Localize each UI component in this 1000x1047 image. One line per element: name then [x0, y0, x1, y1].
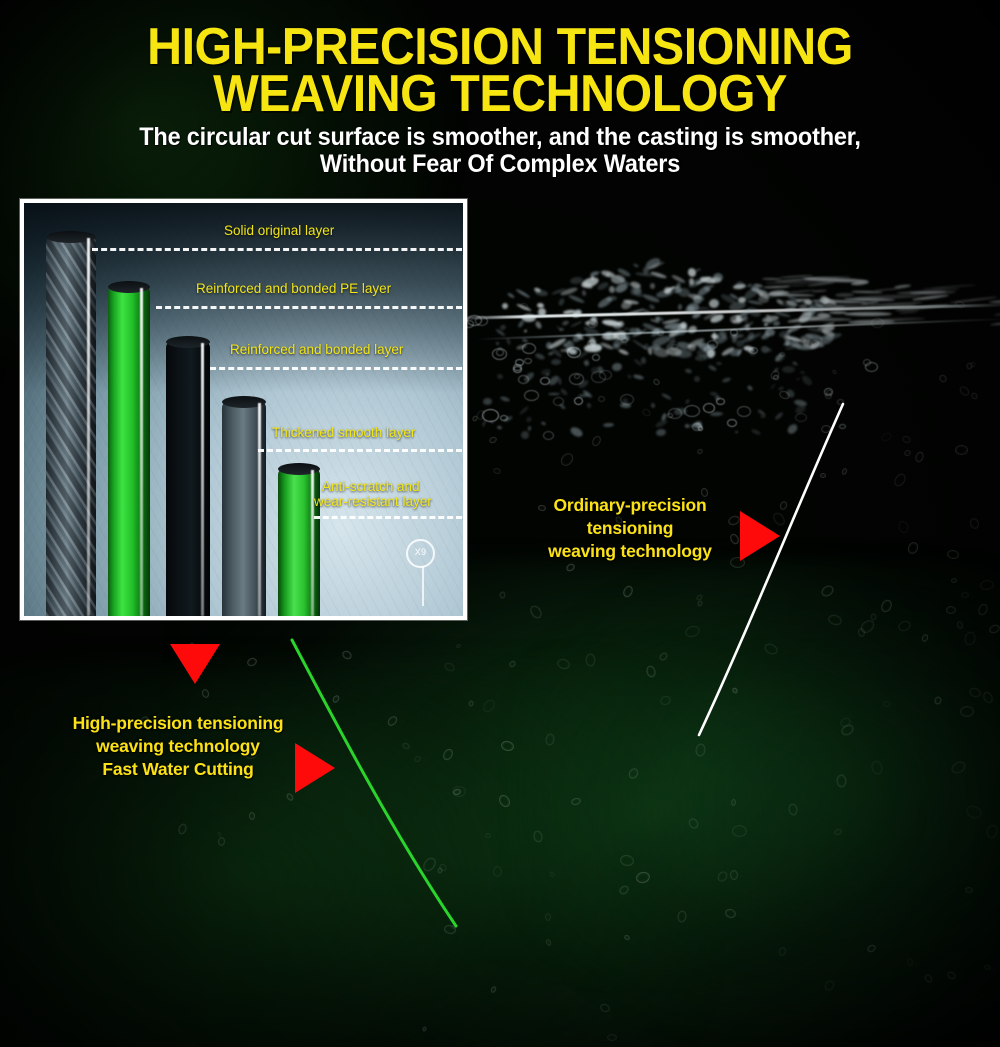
layer-dash-thickened-smooth — [258, 449, 462, 452]
layer-dash-reinforced-bonded — [210, 367, 462, 370]
cylinder-anti-scratch — [278, 468, 320, 616]
layer-label-anti-scratch: Anti-scratch and — [322, 479, 420, 494]
layer-dash-solid-original — [92, 248, 462, 251]
cylinder-highlight — [201, 343, 204, 616]
arrow-right-icon-ordinary — [740, 511, 780, 561]
layer-dash-reinforced-pe — [156, 306, 462, 309]
cylinder-highlight — [87, 238, 90, 616]
callout-high-line-2: weaving technology — [96, 736, 260, 756]
cylinder-thickened-smooth — [222, 401, 266, 616]
callout-high-precision: High-precision tensioning weaving techno… — [38, 712, 318, 781]
arrow-right-icon-high — [295, 743, 335, 793]
layer-label-solid-original: Solid original layer — [224, 223, 334, 238]
cylinder-braided-core — [46, 236, 96, 616]
layer-label-reinforced-bonded: Reinforced and bonded layer — [230, 342, 403, 357]
cylinder-highlight — [311, 470, 314, 616]
cylinder-green-pe — [108, 286, 150, 616]
page-title: HIGH-PRECISION TENSIONING WEAVING TECHNO… — [35, 24, 965, 118]
inset-photo: Solid original layer Reinforced and bond… — [24, 203, 463, 616]
cylinder-cap — [108, 281, 150, 293]
callout-ordinary-line-2: tensioning — [587, 518, 673, 538]
layer-label-wear-resistant: wear-resistant layer — [314, 494, 432, 509]
page-subtitle: The circular cut surface is smoother, an… — [30, 124, 970, 178]
callout-high-line-3: Fast Water Cutting — [102, 759, 253, 779]
layer-label-reinforced-pe: Reinforced and bonded PE layer — [196, 281, 391, 296]
subheadline-line-1: The circular cut surface is smoother, an… — [139, 123, 861, 151]
product-poster: HIGH-PRECISION TENSIONING WEAVING TECHNO… — [0, 0, 1000, 1047]
magnification-stem — [422, 566, 424, 606]
callout-ordinary-line-3: weaving technology — [548, 541, 712, 561]
cylinder-bonded-layer — [166, 341, 210, 616]
subheadline-line-2: Without Fear Of Complex Waters — [320, 150, 680, 178]
layer-label-thickened-smooth: Thickened smooth layer — [272, 425, 415, 440]
callout-ordinary-precision: Ordinary-precision tensioning weaving te… — [520, 494, 740, 563]
headline-line-2: WEAVING TECHNOLOGY — [35, 71, 965, 118]
callout-ordinary-line-1: Ordinary-precision — [554, 495, 707, 515]
callout-high-line-1: High-precision tensioning — [73, 713, 284, 733]
cylinder-highlight — [258, 403, 261, 616]
layer-dash-anti-scratch — [314, 516, 462, 519]
layer-structure-inset: Solid original layer Reinforced and bond… — [20, 199, 467, 620]
arrow-down-icon-high — [170, 644, 220, 684]
magnification-badge: X9 — [406, 539, 435, 568]
cylinder-highlight — [140, 288, 143, 616]
